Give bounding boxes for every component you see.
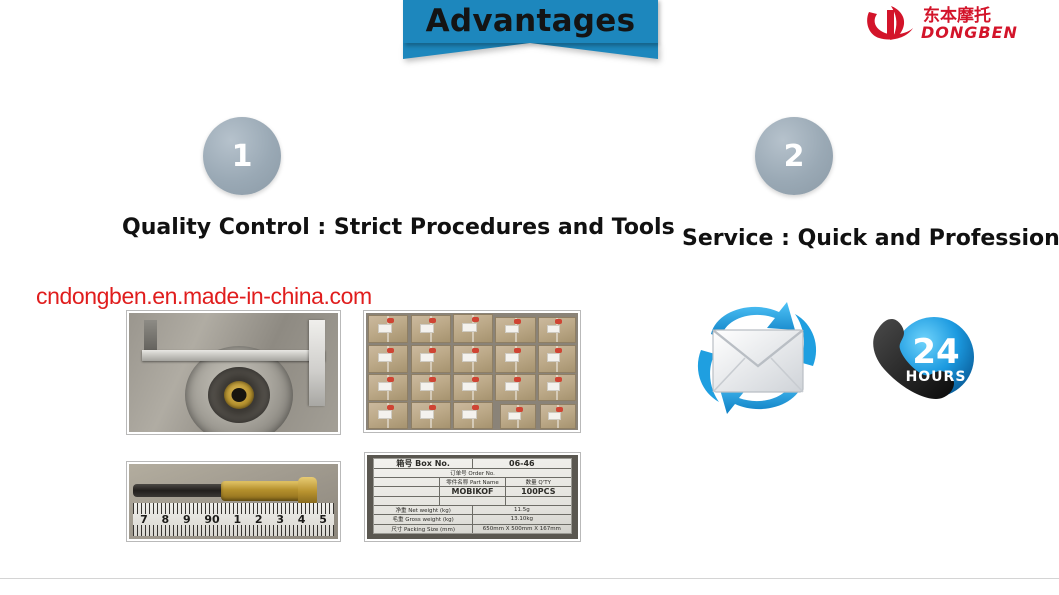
label-row: 订单号 Order No.: [374, 469, 570, 478]
label-row: 净重 Net weight (kg) 11.5g: [374, 506, 570, 515]
carton: [368, 315, 408, 343]
hours-word: HOURS: [906, 369, 967, 385]
svg-text:DONGBEN: DONGBEN: [921, 23, 1018, 42]
column-heading-quality-control: Quality Control : Strict Procedures and …: [122, 215, 675, 240]
24-hours-phone-icon: 24 HOURS: [862, 307, 980, 415]
label-cell: 06-46: [473, 459, 571, 467]
carton: [495, 317, 535, 344]
brass-nipple: [298, 477, 317, 506]
label-cell: 零件名称 Part Name: [440, 478, 506, 486]
banner-title: Advantages: [426, 3, 636, 39]
email-exchange-icon: [683, 296, 831, 424]
label-cell: [440, 497, 506, 505]
label-row: [374, 497, 570, 506]
label-cell: 数量 Q'TY: [506, 478, 571, 486]
footer-divider: [0, 578, 1059, 579]
carton: [368, 374, 408, 401]
packing-label-sheet: 箱号 Box No. 06-46 订单号 Order No. 零件名称 Part…: [373, 458, 571, 534]
label-cell: [506, 497, 571, 505]
hub-bore: [232, 388, 247, 402]
carton: [453, 374, 493, 401]
label-row: 尺寸 Packing Size (mm) 650mm X 500mm X 167…: [374, 525, 570, 533]
watermark-url: cndongben.en.made-in-china.com: [36, 283, 372, 310]
brass-hub: [224, 381, 254, 409]
label-cell: 箱号 Box No.: [374, 459, 473, 467]
label-cell: 11.5g: [473, 506, 571, 514]
cable-outer-sheath: [133, 484, 229, 497]
carton: [368, 345, 408, 373]
carton: [495, 374, 535, 401]
carton: [453, 402, 493, 429]
label-row: MOBIKOF 100PCS: [374, 487, 570, 496]
photo-packed-cartons: [363, 310, 581, 433]
label-cell: 净重 Net weight (kg): [374, 506, 473, 514]
label-row: 毛重 Gross weight (kg) 13.10kg: [374, 515, 570, 524]
step-number-circle-2: 2: [755, 117, 833, 195]
photo-caliper-measurement: [126, 310, 341, 435]
photo-cable-fitting-measurement: 7899012345: [126, 461, 341, 542]
hours-number: 24: [912, 332, 959, 372]
steel-ruler: 7899012345: [133, 503, 334, 536]
label-cell: 毛重 Gross weight (kg): [374, 515, 473, 523]
brass-end-fitting: [221, 481, 309, 501]
carton: [538, 345, 576, 373]
step-number-2: 2: [784, 139, 805, 174]
caliper-jaw-right: [309, 320, 325, 406]
ruler-ticks-bottom: [133, 525, 334, 536]
photo-packing-label: 箱号 Box No. 06-46 订单号 Order No. 零件名称 Part…: [364, 452, 581, 542]
carton: [540, 404, 576, 429]
banner-chevron-tail: [403, 43, 658, 59]
column-heading-service: Service : Quick and Professional: [682, 226, 1059, 251]
step-number-1: 1: [232, 139, 253, 174]
label-cell: [374, 478, 440, 486]
label-row: 箱号 Box No. 06-46: [374, 459, 570, 468]
step-number-circle-1: 1: [203, 117, 281, 195]
carton: [538, 317, 576, 344]
label-cell: MOBIKOF: [440, 487, 506, 495]
carton: [453, 345, 493, 373]
carton: [500, 404, 536, 429]
carton: [538, 374, 576, 401]
label-cell: 尺寸 Packing Size (mm): [374, 525, 473, 533]
caliper-beam: [142, 350, 326, 361]
dongben-motorcycle-logo: 东本摩托 DONGBEN: [863, 2, 1051, 50]
carton: [411, 402, 451, 429]
carton: [495, 345, 535, 373]
label-cell: [374, 497, 440, 505]
carton: [411, 315, 451, 343]
label-cell: 13.10kg: [473, 515, 571, 523]
label-cell: 650mm X 500mm X 167mm: [473, 525, 571, 533]
label-cell: 订单号 Order No.: [374, 469, 570, 477]
carton: [453, 314, 493, 343]
label-row: 零件名称 Part Name 数量 Q'TY: [374, 478, 570, 487]
brake-drum-inner: [208, 367, 270, 423]
carton: [368, 402, 408, 429]
carton: [411, 345, 451, 373]
label-cell: 100PCS: [506, 487, 571, 495]
banner-advantages: Advantages: [403, 0, 658, 43]
label-cell: [374, 487, 440, 495]
slide-canvas: Advantages 东本摩托 DONGBEN 1 Quality Contro…: [0, 0, 1059, 595]
carton: [411, 374, 451, 401]
